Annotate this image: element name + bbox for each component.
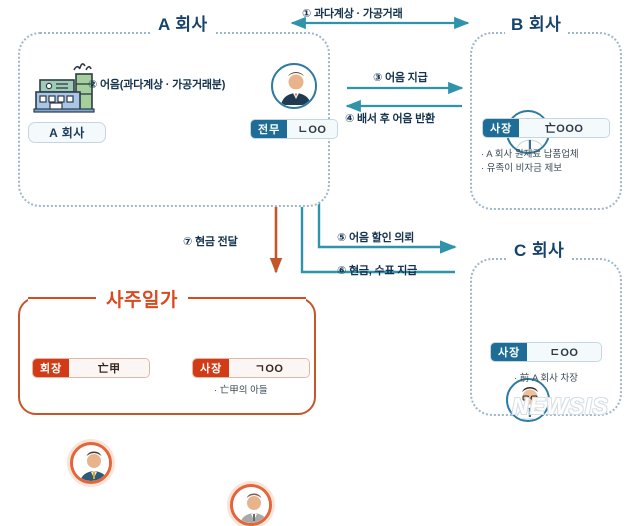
company-c-president-role: 사장 [491,343,527,361]
family-member-1-role: 사장 [193,359,229,377]
family-member-0-badge: 회장 亡甲 [32,358,150,378]
flow-7-label: ⑦ 현금 전달 [183,233,238,249]
company-c-president-name: ㄷOO [527,343,601,361]
family-rule-left [28,297,96,299]
family-member-1-note: · 亡甲의 아들 [214,384,268,397]
flow-2-label: ② 어음(과다계상 · 가공거래분) [88,76,225,92]
company-a-executive-name: ㄴOO [287,120,337,138]
company-a-executive-avatar [271,63,317,109]
newsis-watermark: NEWSIS [512,393,609,420]
family-member-0-avatar [70,442,112,484]
company-b-president-badge: 사장 亡OOO [482,118,610,138]
company-c-president-badge: 사장 ㄷOO [490,342,602,362]
flow-5-label: ⑤ 어음 할인 의뢰 [337,229,414,245]
family-member-0-role: 회장 [33,359,69,377]
family-container [18,297,316,415]
company-b-title: B 회사 [505,10,567,35]
company-c-title: C 회사 [508,236,570,261]
flow-1-label: ① 과다계상 · 가공거래 [302,5,403,21]
family-member-1-avatar [230,484,272,526]
family-title-row: 사주일가 [28,288,306,308]
flow-6-label: ⑥ 현금, 수표 지급 [337,262,417,278]
family-title: 사주일가 [96,285,188,312]
company-a-executive-badge: 전무 ㄴOO [250,119,338,139]
family-member-1-badge: 사장 ㄱOO [192,358,310,378]
company-c-note-1: · 前 A 회사 차장 [490,372,602,385]
diagram-canvas: A 회사 A 회사 ② 어음(과다계상 · 가공 [0,0,640,432]
family-member-0-name: 亡甲 [69,359,149,377]
family-member-1-name: ㄱOO [229,359,309,377]
flow-3-label: ③ 어음 지급 [373,69,428,85]
company-b-president-role: 사장 [483,119,519,137]
family-rule-right [188,297,306,299]
company-b-note-1: · A 회사 원재료 납품업체 [481,148,579,161]
company-b-note-2: · 유족이 비자금 제보 [481,162,562,175]
company-a-executive-role: 전무 [251,120,287,138]
company-a-title: A 회사 [152,10,214,35]
company-a-factory-label: A 회사 [28,122,106,143]
flow-4-label: ④ 배서 후 어음 반환 [345,110,435,126]
company-b-president-name: 亡OOO [519,119,609,137]
